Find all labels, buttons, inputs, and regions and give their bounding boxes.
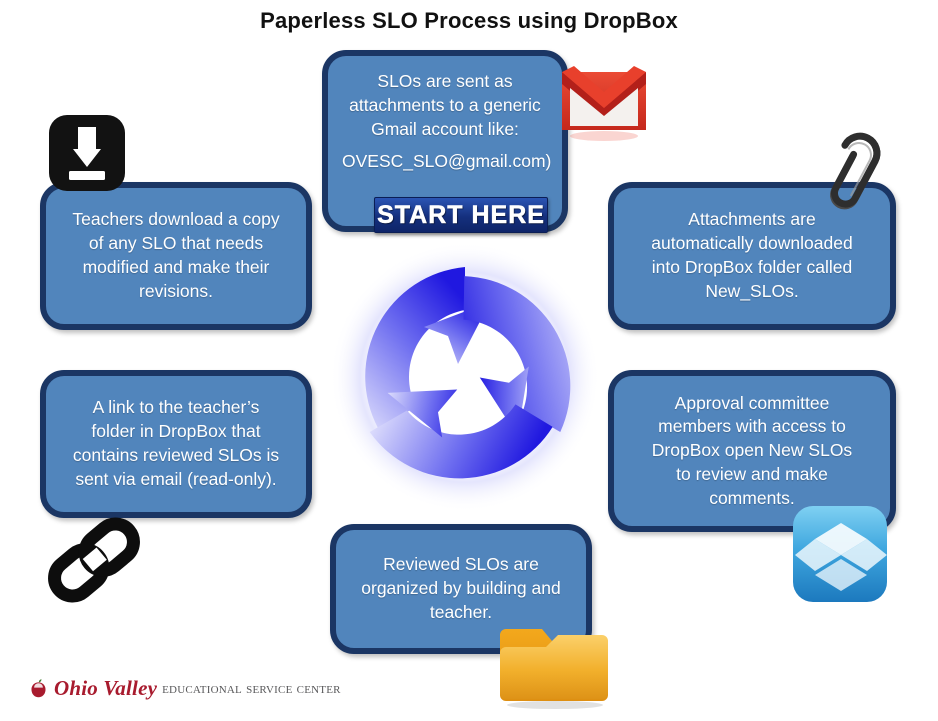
footer-subtitle: Educational Service Center [162, 680, 341, 698]
step-box-link-email-text: A link to the teacher’s folder in DropBo… [60, 396, 292, 491]
left-top-line-1: Teachers download a copy [60, 208, 292, 232]
right-top-line-2: automatically downloaded [628, 232, 876, 256]
page-title: Paperless SLO Process using DropBox [0, 8, 938, 34]
diagram-canvas: Paperless SLO Process using DropBox [0, 0, 938, 721]
step-box-teachers-download-text: Teachers download a copy of any SLO that… [60, 208, 292, 303]
left-top-line-3: modified and make their [60, 256, 292, 280]
start-line-1: SLOs are sent as [342, 70, 548, 94]
footer-logo: Ohio Valley Educational Service Center [28, 676, 341, 701]
right-top-line-3: into DropBox folder called [628, 256, 876, 280]
left-bottom-line-3: contains reviewed SLOs is [60, 444, 292, 468]
left-bottom-line-4: sent via email (read-only). [60, 468, 292, 492]
gmail-icon [556, 58, 652, 144]
step-box-attachments-text: Attachments are automatically downloaded… [628, 208, 876, 303]
recycle-arrows-icon [320, 232, 610, 522]
start-line-3: Gmail account like: [342, 118, 548, 142]
start-here-badge[interactable]: START HERE [374, 197, 548, 233]
start-here-label: START HERE [377, 201, 545, 230]
step-box-start-text: SLOs are sent as attachments to a generi… [342, 70, 548, 174]
right-bottom-line-4: to review and make [628, 463, 876, 487]
bottom-line-2: organized by building and [350, 577, 572, 601]
start-line-4: OVESC_SLO@gmail.com) [342, 150, 548, 174]
start-line-2: attachments to a generic [342, 94, 548, 118]
step-box-approval-committee-text: Approval committee members with access t… [628, 392, 876, 511]
download-icon [47, 113, 127, 193]
right-top-line-4: New_SLOs. [628, 280, 876, 304]
left-bottom-line-1: A link to the teacher’s [60, 396, 292, 420]
chain-link-icon [44, 508, 144, 612]
dropbox-icon [790, 503, 892, 609]
footer-brand: Ohio Valley [54, 676, 157, 701]
right-bottom-line-2: members with access to [628, 415, 876, 439]
right-bottom-line-3: DropBox open New SLOs [628, 439, 876, 463]
paperclip-icon [812, 126, 890, 214]
folder-icon [500, 613, 610, 711]
right-bottom-line-1: Approval committee [628, 392, 876, 416]
left-top-line-4: revisions. [60, 280, 292, 304]
step-box-teachers-download[interactable]: Teachers download a copy of any SLO that… [40, 182, 312, 330]
apple-icon [28, 678, 49, 699]
start-spacer [342, 141, 548, 150]
step-box-link-email[interactable]: A link to the teacher’s folder in DropBo… [40, 370, 312, 518]
bottom-line-1: Reviewed SLOs are [350, 553, 572, 577]
left-top-line-2: of any SLO that needs [60, 232, 292, 256]
left-bottom-line-2: folder in DropBox that [60, 420, 292, 444]
